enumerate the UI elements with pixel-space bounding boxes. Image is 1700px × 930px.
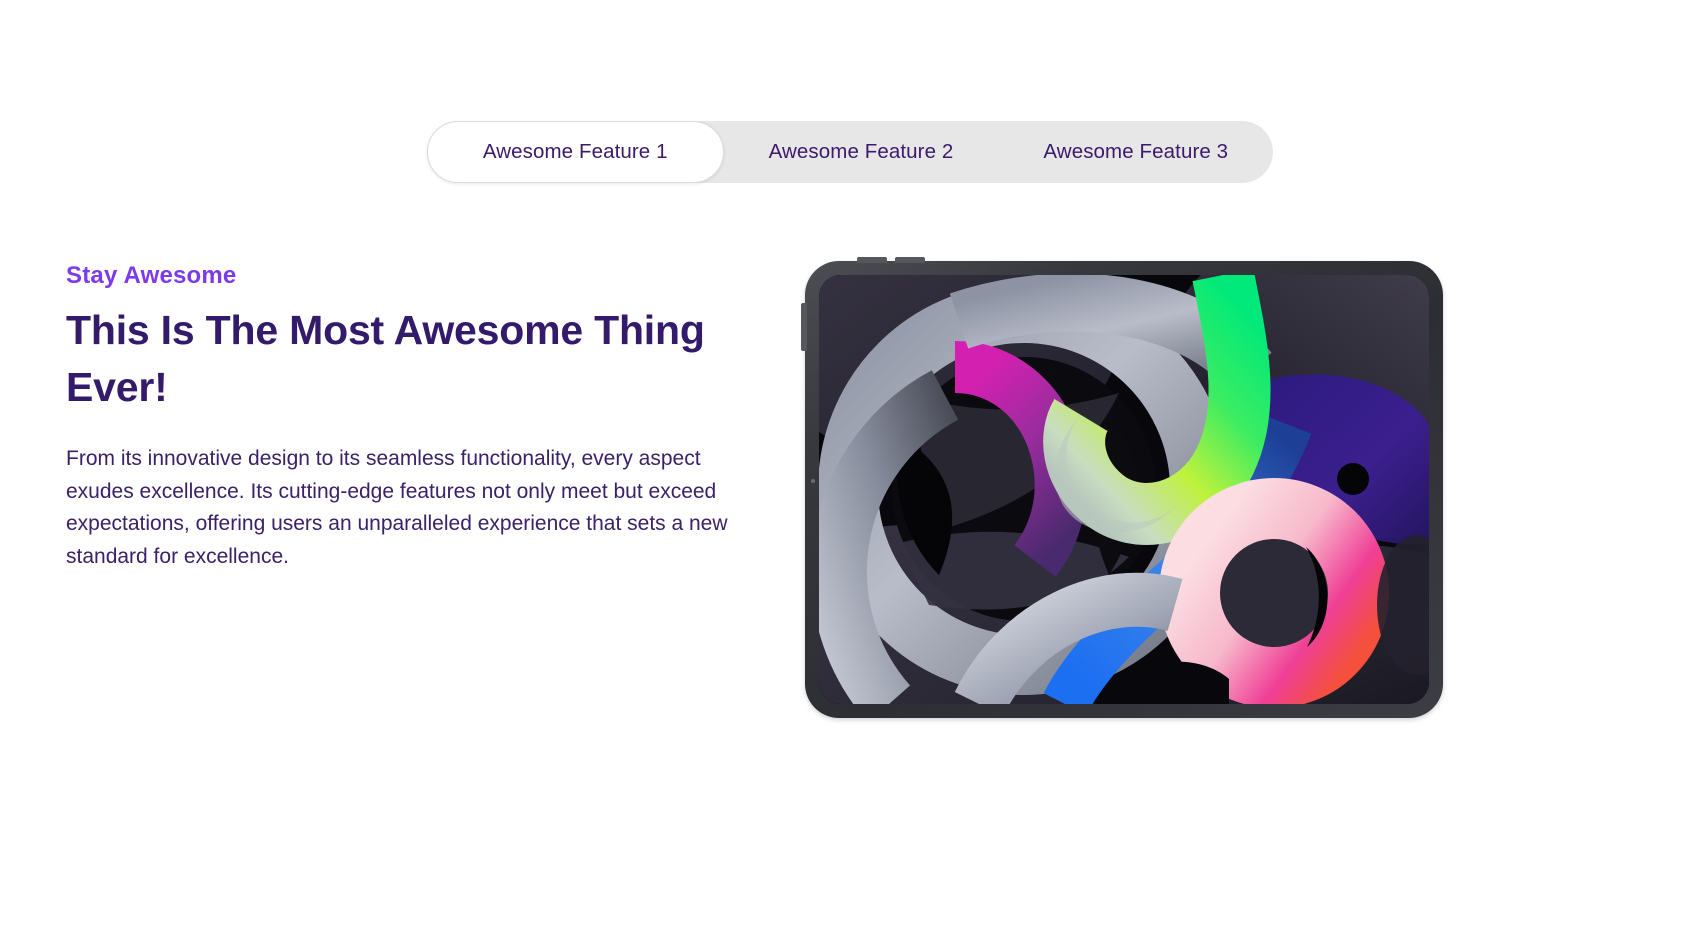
volume-down-button [895, 257, 925, 263]
feature-tabbar: Awesome Feature 1 Awesome Feature 2 Awes… [427, 121, 1273, 183]
power-button [801, 303, 807, 351]
tab-awesome-feature-3[interactable]: Awesome Feature 3 [998, 121, 1273, 183]
front-camera-icon [811, 479, 815, 483]
tab-awesome-feature-1[interactable]: Awesome Feature 1 [427, 121, 724, 183]
tabbar-container: Awesome Feature 1 Awesome Feature 2 Awes… [0, 121, 1700, 183]
tablet-device-mockup [805, 261, 1443, 718]
tab-label: Awesome Feature 3 [1043, 140, 1228, 164]
feature-content: Stay Awesome This Is The Most Awesome Th… [0, 248, 1700, 768]
feature-description: From its innovative design to its seamle… [66, 443, 738, 573]
volume-up-button [857, 257, 887, 263]
tab-label: Awesome Feature 2 [769, 140, 954, 164]
feature-text-column: Stay Awesome This Is The Most Awesome Th… [0, 248, 790, 573]
feature-section: Awesome Feature 1 Awesome Feature 2 Awes… [0, 0, 1700, 930]
tab-awesome-feature-2[interactable]: Awesome Feature 2 [724, 121, 999, 183]
page-title: This Is The Most Awesome Thing Ever! [66, 302, 706, 415]
feature-media-column [790, 248, 1700, 768]
tablet-screen [819, 275, 1429, 704]
tab-label: Awesome Feature 1 [483, 140, 668, 164]
abstract-swirl-wallpaper [819, 275, 1429, 704]
eyebrow-text: Stay Awesome [66, 262, 790, 290]
